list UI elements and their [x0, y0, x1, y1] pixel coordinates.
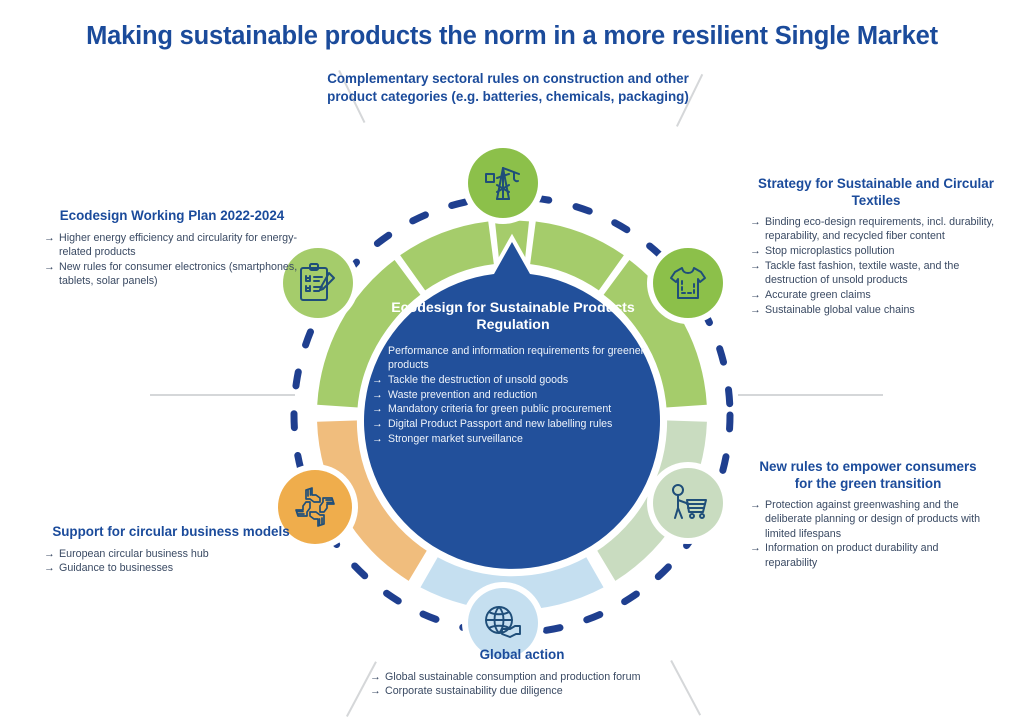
block-global-action: Global action →Global sustainable consum… — [352, 647, 692, 699]
arrow-icon: → — [750, 498, 761, 512]
arrow-icon: → — [370, 684, 381, 698]
badge-sectoral-rules[interactable] — [462, 142, 544, 224]
badge-consumers[interactable] — [647, 462, 729, 544]
block-bullet-list: →Binding eco-design requirements, incl. … — [750, 215, 1002, 317]
block-sectoral-rules: Complementary sectoral rules on construc… — [318, 70, 698, 111]
badge-disc — [653, 248, 723, 318]
list-item: →Accurate green claims — [750, 288, 1002, 302]
infographic-page: Making sustainable products the norm in … — [0, 0, 1024, 725]
clipboard-icon — [295, 260, 341, 306]
arrow-icon: → — [372, 344, 383, 358]
list-item-text: European circular business hub — [59, 548, 209, 560]
list-item: →Sustainable global value chains — [750, 303, 1002, 317]
center-bullet: →Tackle the destruction of unsold goods — [372, 373, 654, 387]
list-item: →Stop microplastics pollution — [750, 244, 1002, 258]
arrow-icon: → — [750, 259, 761, 273]
arrow-icon: → — [372, 373, 383, 387]
arrow-icon: → — [750, 244, 761, 258]
badge-disc — [653, 468, 723, 538]
list-item-text: Sustainable global value chains — [765, 304, 915, 316]
block-bullet-list: →Protection against greenwashing and the… — [750, 498, 986, 570]
block-heading: Ecodesign Working Plan 2022-2024 — [44, 208, 300, 225]
list-item: →Information on product durability and r… — [750, 541, 986, 570]
center-bullet: →Stronger market surveillance — [372, 432, 654, 446]
list-item: →Higher energy efficiency and circularit… — [44, 231, 300, 260]
center-bullet-text: Performance and information requirements… — [388, 345, 644, 371]
list-item-text: Binding eco-design requirements, incl. d… — [765, 216, 994, 242]
arrow-icon: → — [44, 561, 55, 575]
center-bullet: →Digital Product Passport and new labell… — [372, 417, 654, 431]
list-item-text: Global sustainable consumption and produ… — [385, 671, 640, 683]
list-item: →Global sustainable consumption and prod… — [370, 670, 692, 684]
center-bullet: →Waste prevention and reduction — [372, 388, 654, 402]
arrow-icon: → — [372, 417, 383, 431]
block-heading: Support for circular business models — [44, 524, 298, 541]
arrow-icon: → — [750, 288, 761, 302]
list-item: →New rules for consumer electronics (sma… — [44, 260, 300, 289]
list-item: →Corporate sustainability due diligence — [370, 684, 692, 698]
block-ecodesign-working-plan: Ecodesign Working Plan 2022-2024 →Higher… — [44, 208, 300, 289]
list-item-text: Tackle fast fashion, textile waste, and … — [765, 260, 959, 286]
list-item: →Protection against greenwashing and the… — [750, 498, 986, 541]
arrow-icon: → — [44, 260, 55, 274]
center-bullet-text: Stronger market surveillance — [388, 433, 523, 445]
center-bullet-list: →Performance and information requirement… — [372, 344, 654, 446]
list-item-text: Information on product durability and re… — [765, 542, 938, 568]
list-item-text: Protection against greenwashing and the … — [765, 499, 980, 540]
arrow-icon: → — [372, 388, 383, 402]
center-bullet-text: Waste prevention and reduction — [388, 389, 537, 401]
page-title: Making sustainable products the norm in … — [0, 22, 1024, 51]
list-item-text: Higher energy efficiency and circularity… — [59, 232, 297, 258]
center-title: Ecodesign for Sustainable Products Regul… — [372, 300, 654, 334]
arrow-icon: → — [750, 303, 761, 317]
arrow-icon: → — [372, 432, 383, 446]
center-bullet: →Performance and information requirement… — [372, 344, 654, 372]
block-bullet-list: →Higher energy efficiency and circularit… — [44, 231, 300, 289]
badge-disc — [468, 148, 538, 218]
list-item-text: Guidance to businesses — [59, 562, 173, 574]
arrow-icon: → — [370, 670, 381, 684]
globe-hand-icon — [480, 600, 526, 646]
block-bullet-list: →European circular business hub →Guidanc… — [44, 547, 298, 576]
shopper-icon — [665, 480, 711, 526]
crane-icon — [481, 161, 525, 205]
arrow-icon: → — [44, 231, 55, 245]
center-bullet: →Mandatory criteria for green public pro… — [372, 402, 654, 416]
list-item-text: Accurate green claims — [765, 289, 871, 301]
block-textiles-strategy: Strategy for Sustainable and Circular Te… — [750, 176, 1002, 318]
block-heading: Strategy for Sustainable and Circular Te… — [750, 176, 1002, 209]
badge-textiles[interactable] — [647, 242, 729, 324]
list-item: →European circular business hub — [44, 547, 298, 561]
block-heading: Complementary sectoral rules on construc… — [318, 70, 698, 105]
arrow-icon: → — [750, 215, 761, 229]
block-bullet-list: →Global sustainable consumption and prod… — [352, 670, 692, 699]
list-item: →Guidance to businesses — [44, 561, 298, 575]
list-item: →Tackle fast fashion, textile waste, and… — [750, 259, 1002, 288]
list-item-text: Corporate sustainability due diligence — [385, 685, 563, 697]
list-item-text: Stop microplastics pollution — [765, 245, 895, 257]
list-item-text: New rules for consumer electronics (smar… — [59, 261, 297, 287]
block-heading: Global action — [352, 647, 692, 664]
center-bullet-text: Digital Product Passport and new labelli… — [388, 418, 612, 430]
block-heading: New rules to empower consumers for the g… — [750, 459, 986, 492]
center-bullet-text: Mandatory criteria for green public proc… — [388, 403, 611, 415]
list-item: →Binding eco-design requirements, incl. … — [750, 215, 1002, 244]
arrow-icon: → — [372, 402, 383, 416]
center-bullet-text: Tackle the destruction of unsold goods — [388, 374, 568, 386]
center-content: Ecodesign for Sustainable Products Regul… — [372, 300, 654, 480]
arrow-icon: → — [750, 541, 761, 555]
block-circular-business-support: Support for circular business models →Eu… — [44, 524, 298, 576]
arrow-icon: → — [44, 547, 55, 561]
block-consumer-rules: New rules to empower consumers for the g… — [750, 459, 986, 570]
tshirt-icon — [666, 261, 710, 305]
